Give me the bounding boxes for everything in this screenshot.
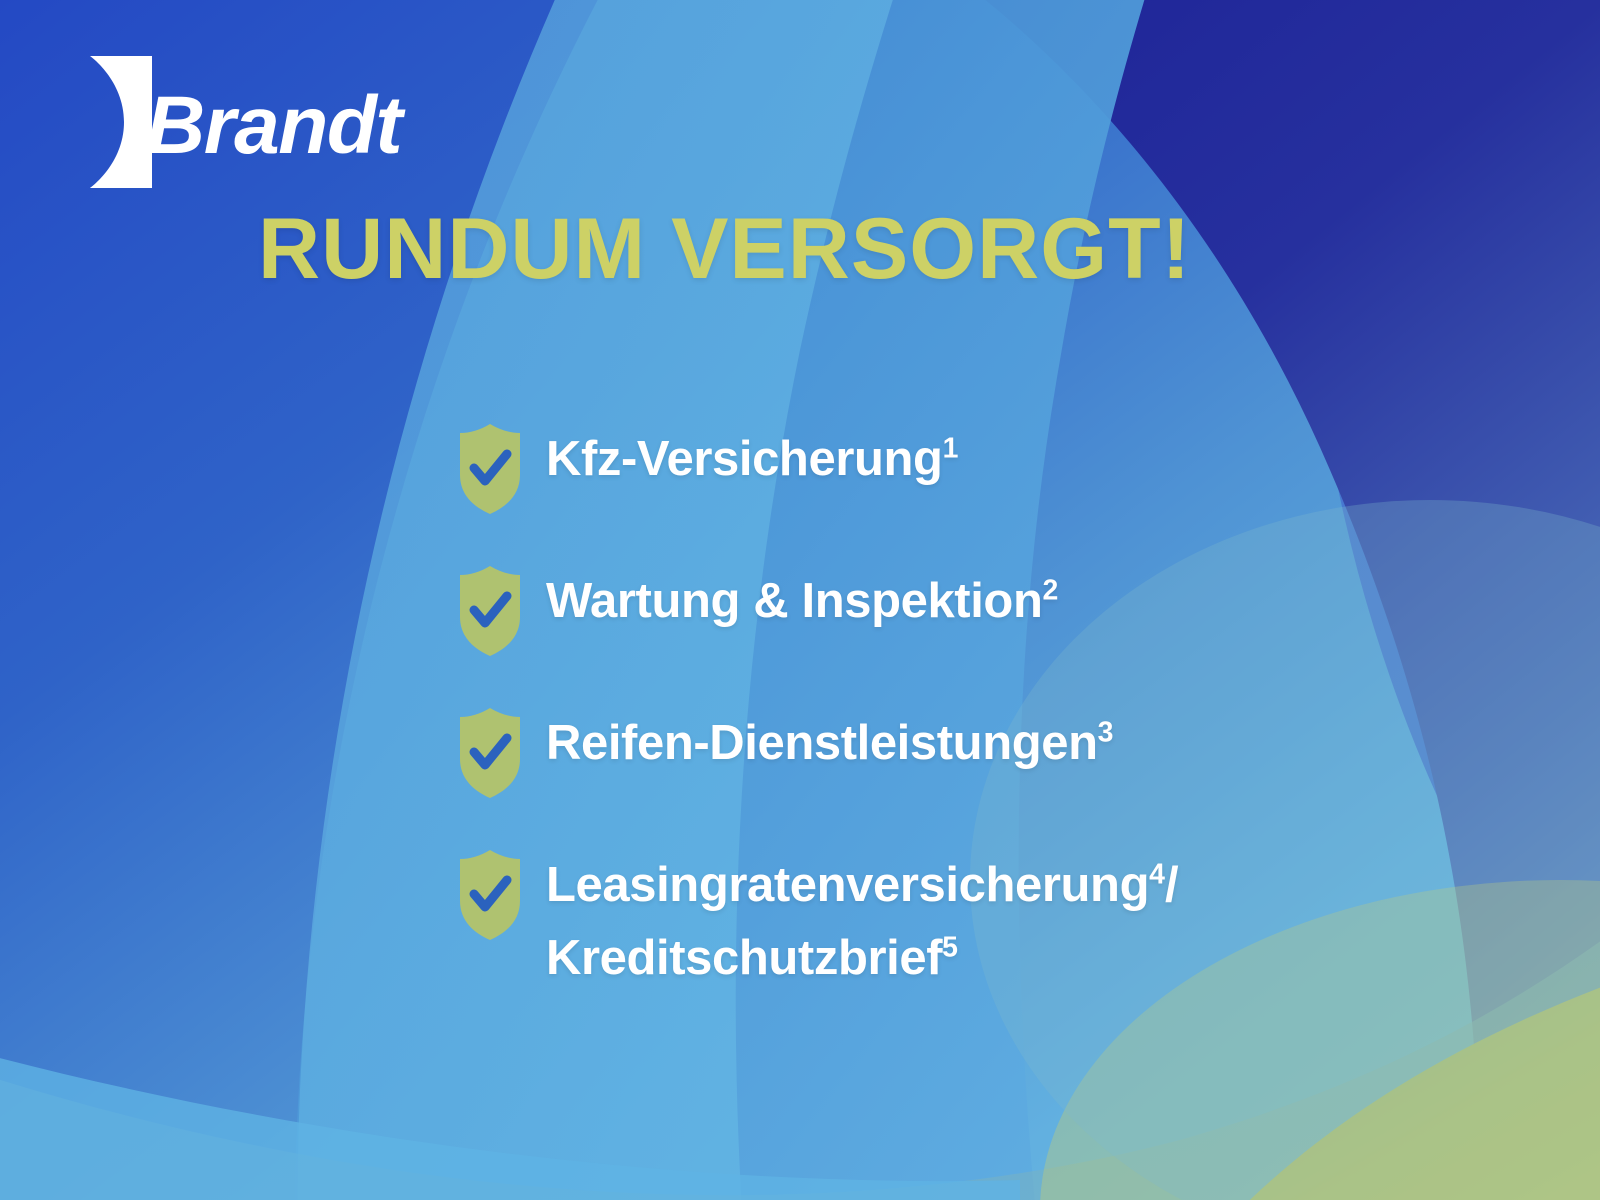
list-item-label: Wartung & Inspektion2 <box>546 557 1058 638</box>
list-item-label: Kfz-Versicherung1 <box>546 415 958 496</box>
list-item-label: Reifen-Dienstleistungen3 <box>546 699 1113 780</box>
footnote-marker: 3 <box>1098 717 1114 749</box>
list-item: Wartung & Inspektion2 <box>452 557 1512 659</box>
brandt-wordmark: Brandt <box>146 85 401 167</box>
brandt-bracket-mark-icon <box>72 56 152 188</box>
list-item: Kfz-Versicherung1 <box>452 415 1512 517</box>
shield-check-icon <box>452 847 528 943</box>
benefits-list: Kfz-Versicherung1 Wartung & Inspektion2 <box>452 415 1512 994</box>
marketing-banner: Brandt RUNDUM VERSORGT! Kfz-Versicherung… <box>0 0 1600 1200</box>
footnote-marker: 4 <box>1149 859 1165 891</box>
list-item-label: Leasingratenversicherung4/ Kreditschutzb… <box>546 841 1506 994</box>
list-item: Reifen-Dienstleistungen3 <box>452 699 1512 801</box>
page-title: RUNDUM VERSORGT! <box>258 206 1191 294</box>
shield-check-icon <box>452 563 528 659</box>
shield-check-icon <box>452 705 528 801</box>
footnote-marker: 5 <box>942 931 958 963</box>
shield-check-icon <box>452 421 528 517</box>
label-separator: / <box>1165 858 1178 912</box>
footnote-marker: 1 <box>943 433 959 465</box>
brandt-logo: Brandt <box>72 56 401 188</box>
list-item: Leasingratenversicherung4/ Kreditschutzb… <box>452 841 1512 994</box>
footnote-marker: 2 <box>1043 575 1059 607</box>
